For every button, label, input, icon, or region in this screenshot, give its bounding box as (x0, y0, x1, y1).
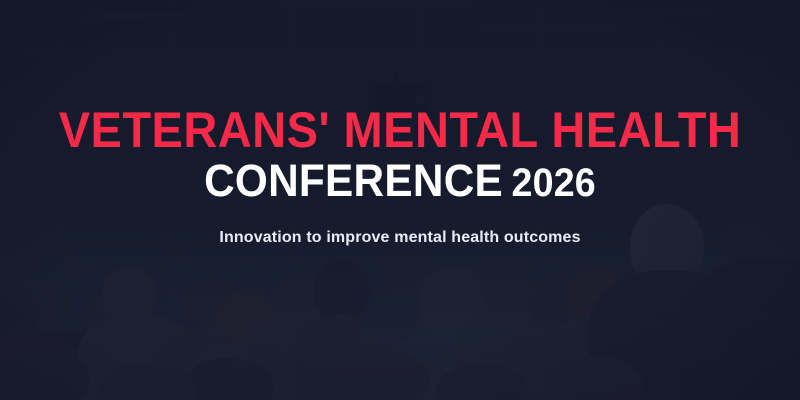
subheadline-word: CONFERENCE (204, 155, 503, 206)
banner-headline: VETERANS' MENTAL HEALTH (24, 104, 776, 156)
banner-content: VETERANS' MENTAL HEALTH CONFERENCE2026 I… (0, 0, 800, 400)
banner-subheadline: CONFERENCE2026 (24, 156, 776, 217)
conference-hero-banner: VETERANS' MENTAL HEALTH CONFERENCE2026 I… (0, 0, 800, 400)
banner-tagline: Innovation to improve mental health outc… (0, 227, 800, 249)
subheadline-year: 2026 (511, 161, 595, 205)
